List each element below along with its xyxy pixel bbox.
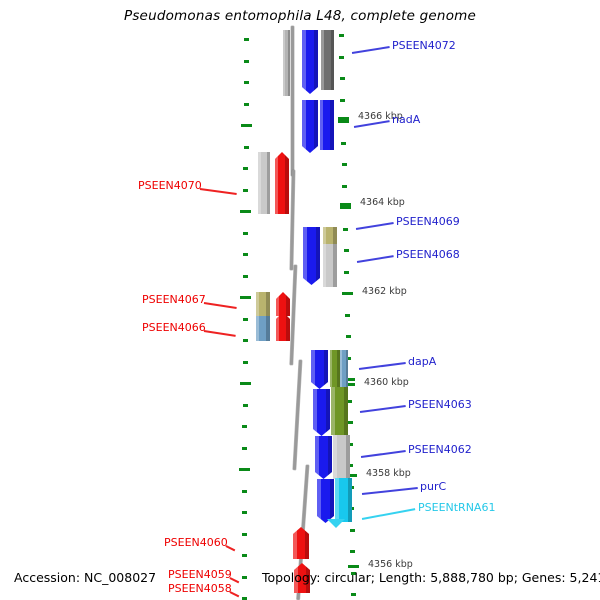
- gene-label-pseen4062[interactable]: PSEEN4062: [408, 443, 472, 456]
- gene-leader-line: [200, 188, 237, 194]
- gene-label-pseen4069[interactable]: PSEEN4069: [396, 215, 460, 228]
- genome-viewer: Pseudomonas entomophila L48, complete ge…: [0, 0, 600, 600]
- gene-label-pseen4060[interactable]: PSEEN4060: [164, 536, 228, 549]
- gene-leader-line: [360, 405, 406, 412]
- gene-label-pseen4068[interactable]: PSEEN4068: [396, 248, 460, 261]
- gene-label-layer: PSEEN4072nadAPSEEN4069PSEEN4068dapAPSEEN…: [0, 0, 600, 600]
- topology-text: Topology: circular; Length: 5,888,780 bp…: [262, 570, 600, 585]
- gene-label-dapa[interactable]: dapA: [408, 355, 436, 368]
- gene-label-pseen4063[interactable]: PSEEN4063: [408, 398, 472, 411]
- gene-leader-line: [204, 330, 236, 336]
- gene-leader-line: [361, 450, 406, 457]
- gene-label-pseen4070[interactable]: PSEEN4070: [138, 179, 202, 192]
- gene-label-nada[interactable]: nadA: [392, 113, 420, 126]
- gene-label-pseen4058[interactable]: PSEEN4058: [168, 582, 232, 595]
- gene-label-pseen4066[interactable]: PSEEN4066: [142, 321, 206, 334]
- gene-leader-line: [354, 120, 390, 127]
- gene-leader-line: [204, 302, 236, 308]
- gene-label-pseentrna61[interactable]: PSEENtRNA61: [418, 501, 495, 514]
- accession-text: Accession: NC_008027: [14, 570, 156, 585]
- gene-leader-line: [356, 222, 394, 229]
- gene-label-pseen4059[interactable]: PSEEN4059: [168, 568, 232, 581]
- gene-leader-line: [362, 508, 415, 519]
- gene-leader-line: [359, 362, 406, 369]
- gene-leader-line: [357, 255, 394, 262]
- gene-leader-line: [352, 46, 390, 53]
- gene-label-pseen4072[interactable]: PSEEN4072: [392, 39, 456, 52]
- gene-label-pseen4067[interactable]: PSEEN4067: [142, 293, 206, 306]
- gene-label-purc[interactable]: purC: [420, 480, 446, 493]
- gene-leader-line: [362, 487, 418, 494]
